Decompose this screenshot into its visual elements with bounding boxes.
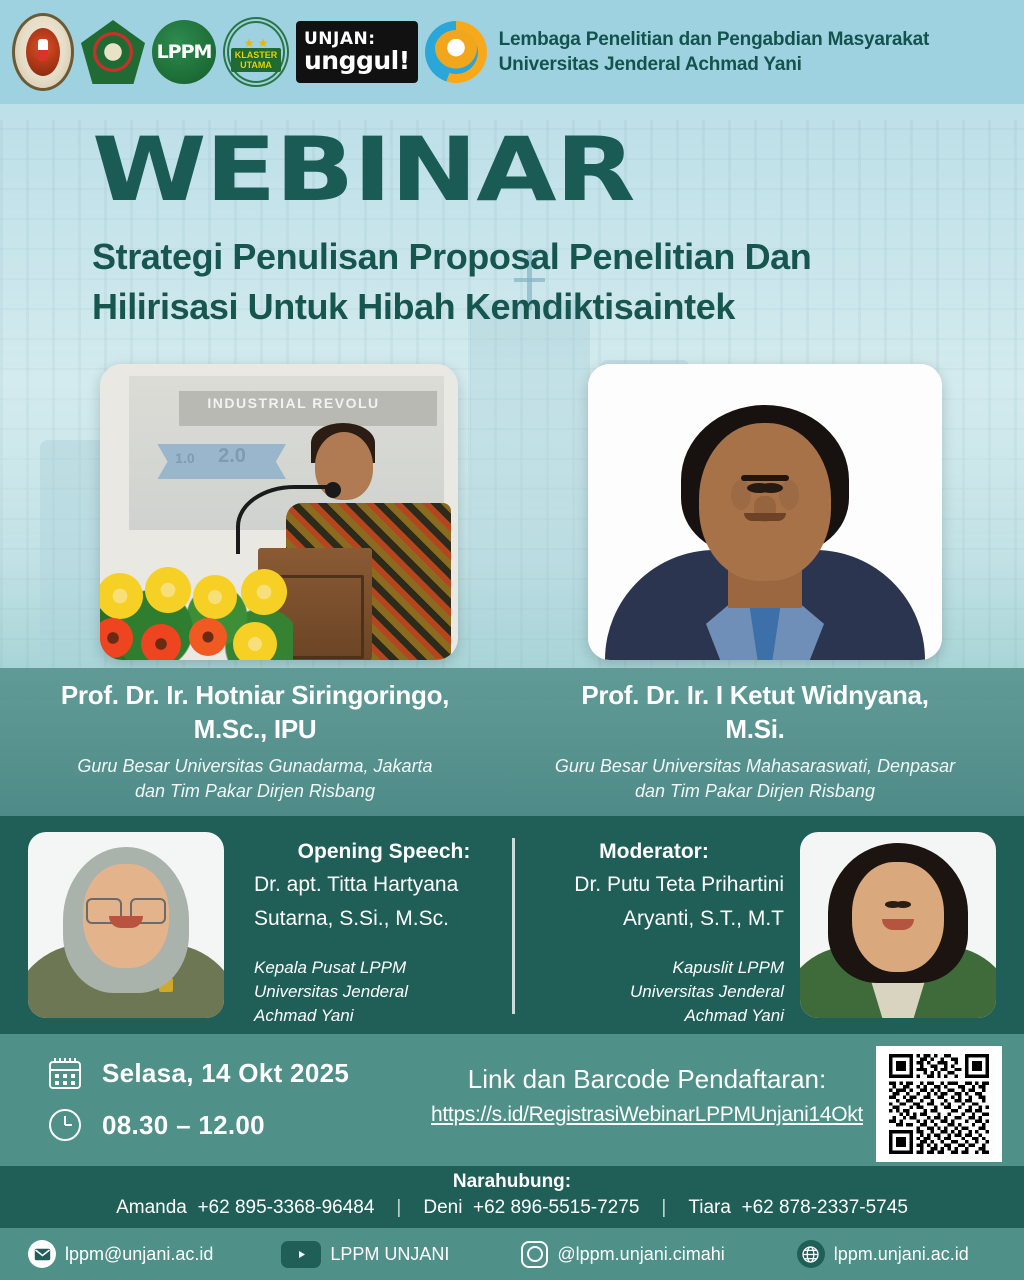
footer-website: lppm.unjani.ac.id [834,1244,969,1265]
org-line-1: Lembaga Penelitian dan Pengabdian Masyar… [499,27,929,52]
org-line-2: Universitas Jenderal Achmad Yani [499,52,929,77]
speaker-photo-row: INDUSTRIAL REVOLU 1.0 2.0 [0,364,1024,664]
footer-youtube: LPPM UNJANI [330,1244,449,1265]
berdampak-logo [425,21,487,83]
moderator-name-line2: Aryanti, S.T., M.T [524,904,784,934]
contacts-heading: Narahubung: [0,1166,1024,1194]
event-time-row: 08.30 – 12.00 [46,1106,349,1144]
contact-1-name: Amanda [116,1197,187,1218]
event-datetime: Selasa, 14 Okt 2025 08.30 – 12.00 [46,1054,349,1158]
photo-screen-caption: INDUSTRIAL REVOLU [207,395,379,411]
event-time: 08.30 – 12.00 [102,1110,265,1141]
email-icon [28,1240,56,1268]
registration-block: Link dan Barcode Pendaftaran: https://s.… [424,1062,870,1130]
clock-icon [46,1106,84,1144]
contact-item: Deni +62 896-5515-7275 [423,1194,639,1222]
contact-2-name: Deni [423,1197,462,1218]
speaker-1-name-line1: Prof. Dr. Ir. Hotniar Siringoringo, [20,678,490,712]
footer-website-item[interactable]: lppm.unjani.ac.id [797,1240,969,1268]
opening-speaker-name-line1: Dr. apt. Titta Hartyana [254,870,514,900]
calendar-icon [46,1054,84,1092]
contact-3-name: Tiara [688,1197,731,1218]
moderator-heading: Moderator: [524,838,784,866]
moderator-affil-line3: Achmad Yani [524,1004,784,1028]
roles-band: Opening Speech: Dr. apt. Titta Hartyana … [0,816,1024,1034]
speaker-2-name-line1: Prof. Dr. Ir. I Ketut Widnyana, [520,678,990,712]
speaker-1-affiliation-line2: dan Tim Pakar Dirjen Risbang [20,779,490,804]
event-info-band: Selasa, 14 Okt 2025 08.30 – 12.00 Link d… [0,1034,1024,1166]
footer-email: lppm@unjani.ac.id [65,1244,213,1265]
contacts-band: Narahubung: Amanda +62 895-3368-96484 | … [0,1166,1024,1228]
unjani-unggul-logo: UNJAN: unggul! [296,21,418,83]
roles-divider [512,838,515,1014]
webinar-poster: LPPM ★ ★ KLASTER UTAMA UNJAN: unggul! Le… [0,0,1024,1280]
footer-band: lppm@unjani.ac.id LPPM UNJANI @lppm.unja… [0,1228,1024,1280]
opening-speaker-affil-line2: Universitas Jenderal [254,980,514,1004]
lppm-logo: LPPM [152,20,216,84]
speaker-1-name-line2: M.Sc., IPU [20,712,490,746]
contacts-separator: | [661,1194,666,1222]
footer-youtube-item[interactable]: LPPM UNJANI [281,1241,449,1268]
footer-instagram-item[interactable]: @lppm.unjani.cimahi [521,1241,724,1268]
opening-speaker-name-line2: Sutarna, S.Si., M.Sc. [254,904,514,934]
contact-2-phone: +62 896-5515-7275 [473,1197,639,1218]
opening-speaker-photo [28,832,224,1018]
opening-speech-text: Opening Speech: Dr. apt. Titta Hartyana … [254,838,514,1028]
poster-header: LPPM ★ ★ KLASTER UTAMA UNJAN: unggul! Le… [0,0,1024,104]
lppm-logo-text: LPPM [157,41,212,63]
photo-label-2: 2.0 [218,445,246,468]
subtitle-line-2: Hilirisasi Untuk Hibah Kemdiktisaintek [92,282,972,332]
registration-qr-code[interactable] [876,1046,1002,1162]
footer-instagram: @lppm.unjani.cimahi [557,1244,724,1265]
opening-speaker-affil-line3: Achmad Yani [254,1004,514,1028]
contact-3-phone: +62 878-2337-5745 [741,1197,907,1218]
speaker-block-1: Prof. Dr. Ir. Hotniar Siringoringo, M.Sc… [20,678,490,804]
speaker-2-affiliation-line2: dan Tim Pakar Dirjen Risbang [520,779,990,804]
instagram-icon [521,1241,548,1268]
logo-strip: LPPM ★ ★ KLASTER UTAMA UNJAN: unggul! [0,13,487,91]
registration-heading: Link dan Barcode Pendaftaran: [424,1062,870,1096]
yayasan-kartika-eka-paksi-logo [12,13,74,91]
unjani-pentagon-logo [81,20,145,84]
speaker-1-affiliation-line1: Guru Besar Universitas Gunadarma, Jakart… [20,754,490,779]
contact-1-phone: +62 895-3368-96484 [197,1197,374,1218]
contacts-list: Amanda +62 895-3368-96484 | Deni +62 896… [0,1194,1024,1222]
page-title: WEBINAR [92,126,1024,214]
moderator-photo [800,832,996,1018]
speaker-photo-iketut [588,364,942,660]
opening-speech-heading: Opening Speech: [254,838,514,866]
speaker-photo-hotniar: INDUSTRIAL REVOLU 1.0 2.0 [100,364,458,660]
speaker-names-band: Prof. Dr. Ir. Hotniar Siringoringo, M.Sc… [0,668,1024,816]
moderator-affil-line2: Universitas Jenderal [524,980,784,1004]
subtitle-line-1: Strategi Penulisan Proposal Penelitian D… [92,232,972,282]
opening-speaker-affil-line1: Kepala Pusat LPPM [254,956,514,980]
photo-label-1: 1.0 [175,450,194,466]
contact-item: Amanda +62 895-3368-96484 [116,1194,374,1222]
moderator-affil-line1: Kapuslit LPPM [524,956,784,980]
event-date-row: Selasa, 14 Okt 2025 [46,1054,349,1092]
moderator-name-line1: Dr. Putu Teta Prihartini [524,870,784,900]
speaker-2-affiliation-line1: Guru Besar Universitas Mahasaraswati, De… [520,754,990,779]
header-org-name: Lembaga Penelitian dan Pengabdian Masyar… [499,27,929,77]
unggul-line2: unggul! [304,48,410,73]
youtube-icon [281,1241,321,1268]
event-date: Selasa, 14 Okt 2025 [102,1058,349,1089]
registration-link[interactable]: https://s.id/RegistrasiWebinarLPPMUnjani… [424,1100,870,1130]
footer-email-item[interactable]: lppm@unjani.ac.id [28,1240,213,1268]
moderator-text: Moderator: Dr. Putu Teta Prihartini Arya… [524,838,784,1028]
globe-icon [797,1240,825,1268]
speaker-2-name-line2: M.Si. [520,712,990,746]
title-block: WEBINAR Strategi Penulisan Proposal Pene… [92,126,972,332]
klaster-utama-logo: ★ ★ KLASTER UTAMA [223,17,289,87]
speaker-block-2: Prof. Dr. Ir. I Ketut Widnyana, M.Si. Gu… [520,678,990,804]
contact-item: Tiara +62 878-2337-5745 [688,1194,908,1222]
contacts-separator: | [396,1194,401,1222]
